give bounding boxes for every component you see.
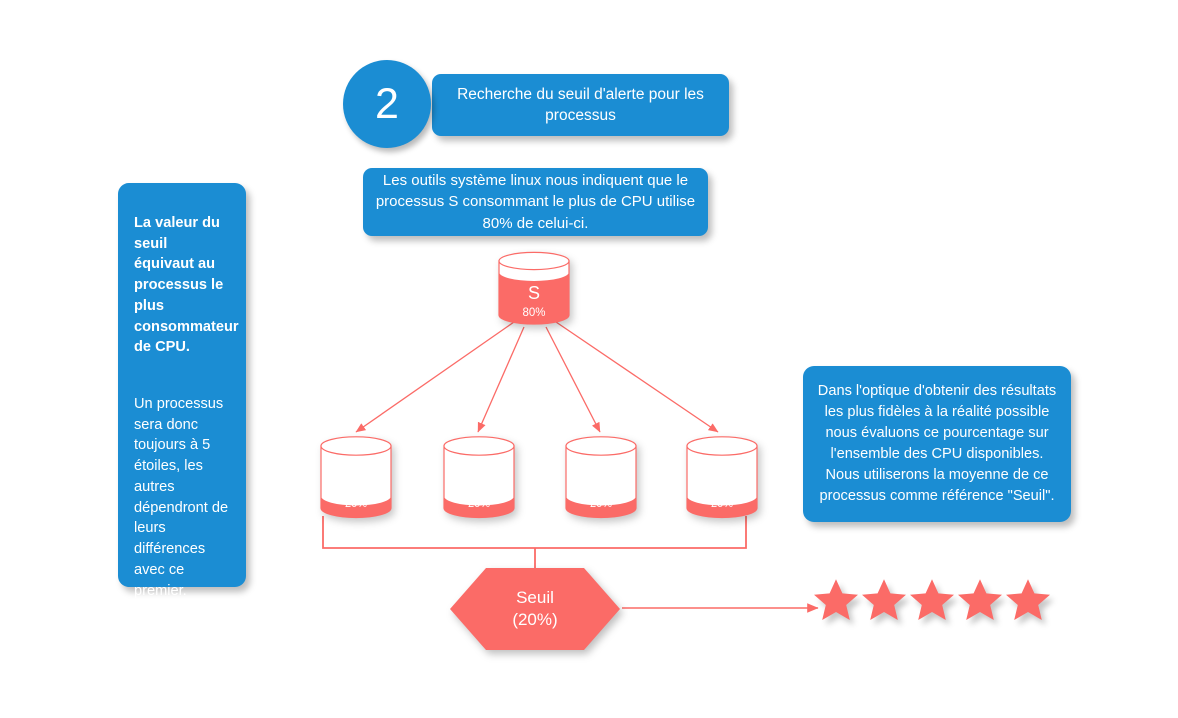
cpu-cylinder: 20% [443, 436, 515, 518]
aggregation-bracket [323, 516, 746, 572]
cpu-cylinder: 20% [320, 436, 392, 518]
cpu-cylinder: 20% [565, 436, 637, 518]
right-info-text: Dans l'optique d'obtenir des résultats l… [815, 381, 1059, 507]
right-info-callout: Dans l'optique d'obtenir des résultats l… [803, 366, 1071, 522]
threshold-hexagon: Seuil (20%) [450, 568, 620, 650]
top-info-callout: Les outils système linux nous indiquent … [363, 168, 708, 236]
section-title-label: Recherche du seuil d'alerte pour les pro… [446, 84, 715, 127]
star-icon [956, 576, 1004, 632]
star-icon [1004, 576, 1052, 632]
star-rating [812, 576, 1054, 632]
section-title-box: Recherche du seuil d'alerte pour les pro… [432, 74, 729, 136]
side-info-regular-text: Un processus sera donc toujours à 5 étoi… [134, 394, 230, 601]
star-icon [908, 576, 956, 632]
step-number-badge: 2 [343, 60, 431, 148]
star-icon [812, 576, 860, 632]
diagram-canvas: 2 Recherche du seuil d'alerte pour les p… [0, 0, 1178, 718]
source-cylinder: S 80% [498, 252, 570, 324]
side-info-callout: La valeur du seuil équivaut au processus… [118, 183, 246, 587]
top-info-text: Les outils système linux nous indiquent … [373, 170, 698, 234]
cpu-cylinder: 20% [686, 436, 758, 518]
fanout-arrows [356, 322, 718, 432]
step-number-label: 2 [375, 83, 399, 126]
side-info-bold-text: La valeur du seuil équivaut au processus… [134, 213, 230, 358]
star-icon [860, 576, 908, 632]
